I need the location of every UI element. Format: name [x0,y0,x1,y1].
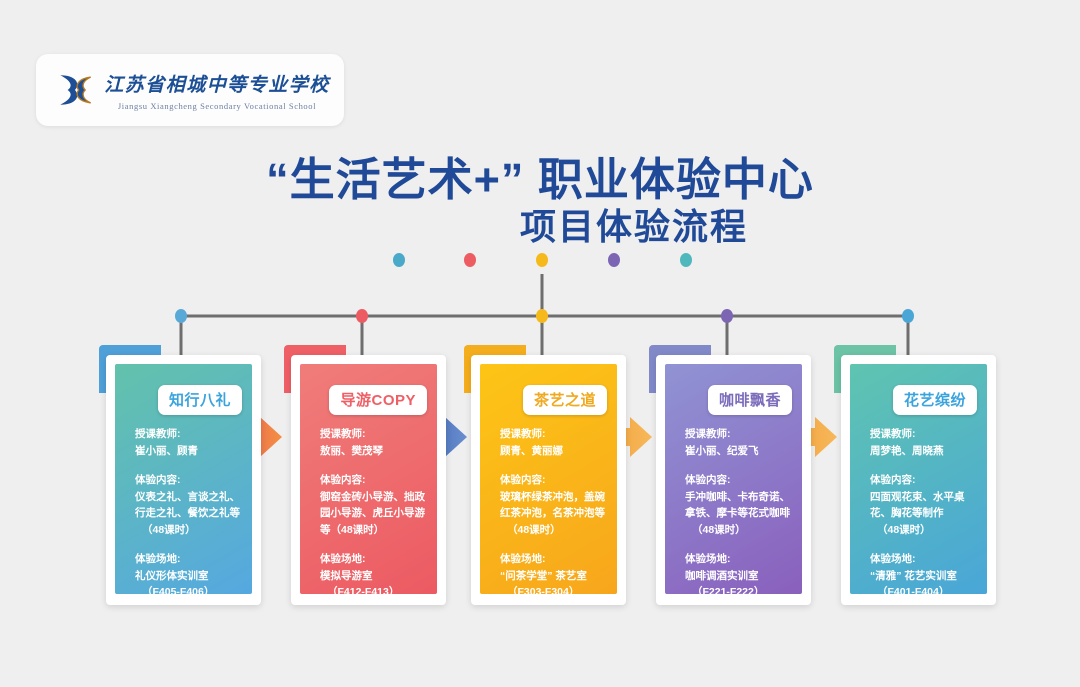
experience-card-01[interactable]: 知行八礼 授课教师: 崔小丽、顾青 体验内容: 仪表之礼、言谈之礼、 行走之礼、… [106,355,261,605]
teacher-value: 崔小丽、纪爱飞 [685,443,794,460]
card-body-05: 授课教师: 周梦艳、周晓燕 体验内容: 四面观花束、水平桌 花、胸花等制作 （4… [870,426,979,594]
venue-line: “问茶学堂” 茶艺室 [500,568,609,585]
timeline-node-dot-4 [721,309,733,323]
content-hours: （48课时） [685,522,794,539]
venue-label: 体验场地: [320,551,429,568]
timeline-node-dot-3 [536,309,548,323]
content-label: 体验内容: [685,472,794,489]
teacher-label: 授课教师: [500,426,609,443]
content-line: 等（48课时） [320,522,429,539]
teacher-label: 授课教师: [685,426,794,443]
timeline-node-dot-5 [902,309,914,323]
venue-label: 体验场地: [135,551,244,568]
content-line: 玻璃杯绿茶冲泡，盖碗 [500,489,609,506]
content-hours: （48课时） [870,522,979,539]
venue-line: 礼仪形体实训室 [135,568,244,585]
card-pill-05: 花艺缤纷 [893,385,977,415]
content-line: 御窑金砖小导游、拙政 [320,489,429,506]
content-line: 拿铁、摩卡等花式咖啡 [685,505,794,522]
card-body-02: 授课教师: 敖丽、樊茂琴 体验内容: 御窑金砖小导游、拙政 园小导游、虎丘小导游… [320,426,429,594]
card-panel-04: 咖啡飘香 授课教师: 崔小丽、纪爱飞 体验内容: 手冲咖啡、卡布奇诺、 拿铁、摩… [665,364,802,594]
content-line: 园小导游、虎丘小导游 [320,505,429,522]
card-panel-03: 茶艺之道 授课教师: 顾青、黄丽娜 体验内容: 玻璃杯绿茶冲泡，盖碗 红茶冲泡，… [480,364,617,594]
timeline-upper-dot-4 [608,253,620,267]
content-line: 手冲咖啡、卡布奇诺、 [685,489,794,506]
venue-room: （F221-F222） [685,584,794,594]
card-panel-02: 导游COPY 授课教师: 敖丽、樊茂琴 体验内容: 御窑金砖小导游、拙政 园小导… [300,364,437,594]
content-line: 红茶冲泡，名茶冲泡等 [500,505,609,522]
timeline-node-dot-2 [356,309,368,323]
card-pill-03: 茶艺之道 [523,385,607,415]
experience-card-03[interactable]: 茶艺之道 授课教师: 顾青、黄丽娜 体验内容: 玻璃杯绿茶冲泡，盖碗 红茶冲泡，… [471,355,626,605]
content-label: 体验内容: [500,472,609,489]
content-label: 体验内容: [135,472,244,489]
teacher-value: 崔小丽、顾青 [135,443,244,460]
card-body-01: 授课教师: 崔小丽、顾青 体验内容: 仪表之礼、言谈之礼、 行走之礼、餐饮之礼等… [135,426,244,594]
venue-room: （F405-F406） [135,584,244,594]
venue-label: 体验场地: [685,551,794,568]
venue-line: 模拟导游室 [320,568,429,585]
venue-line: “清雅” 花艺实训室 [870,568,979,585]
teacher-value: 周梦艳、周晓燕 [870,443,979,460]
venue-label: 体验场地: [500,551,609,568]
venue-room: （F401-F404） [870,584,979,594]
timeline-node-dot-1 [175,309,187,323]
content-label: 体验内容: [320,472,429,489]
venue-room: （F412-F413） [320,584,429,594]
card-body-03: 授课教师: 顾青、黄丽娜 体验内容: 玻璃杯绿茶冲泡，盖碗 红茶冲泡，名茶冲泡等… [500,426,609,594]
card-pill-04: 咖啡飘香 [708,385,792,415]
teacher-label: 授课教师: [870,426,979,443]
timeline-upper-dot-1 [393,253,405,267]
card-body-04: 授课教师: 崔小丽、纪爱飞 体验内容: 手冲咖啡、卡布奇诺、 拿铁、摩卡等花式咖… [685,426,794,594]
card-pill-01: 知行八礼 [158,385,242,415]
card-pill-02: 导游COPY [329,385,427,415]
teacher-label: 授课教师: [135,426,244,443]
venue-room: （F303-F304） [500,584,609,594]
timeline-upper-dot-2 [464,253,476,267]
card-panel-05: 花艺缤纷 授课教师: 周梦艳、周晓燕 体验内容: 四面观花束、水平桌 花、胸花等… [850,364,987,594]
content-line: 行走之礼、餐饮之礼等 [135,505,244,522]
timeline-upper-dot-3 [536,253,548,267]
content-label: 体验内容: [870,472,979,489]
card-panel-01: 知行八礼 授课教师: 崔小丽、顾青 体验内容: 仪表之礼、言谈之礼、 行走之礼、… [115,364,252,594]
teacher-label: 授课教师: [320,426,429,443]
experience-card-02[interactable]: 导游COPY 授课教师: 敖丽、樊茂琴 体验内容: 御窑金砖小导游、拙政 园小导… [291,355,446,605]
infographic-page: 江苏省相城中等专业学校 Jiangsu Xiangcheng Secondary… [0,0,1080,687]
venue-label: 体验场地: [870,551,979,568]
content-line: 花、胸花等制作 [870,505,979,522]
experience-card-04[interactable]: 咖啡飘香 授课教师: 崔小丽、纪爱飞 体验内容: 手冲咖啡、卡布奇诺、 拿铁、摩… [656,355,811,605]
teacher-value: 敖丽、樊茂琴 [320,443,429,460]
timeline-upper-dot-5 [680,253,692,267]
teacher-value: 顾青、黄丽娜 [500,443,609,460]
content-hours: （48课时） [500,522,609,539]
content-line: 仪表之礼、言谈之礼、 [135,489,244,506]
content-hours: （48课时） [135,522,244,539]
experience-card-05[interactable]: 花艺缤纷 授课教师: 周梦艳、周晓燕 体验内容: 四面观花束、水平桌 花、胸花等… [841,355,996,605]
content-line: 四面观花束、水平桌 [870,489,979,506]
venue-line: 咖啡调酒实训室 [685,568,794,585]
